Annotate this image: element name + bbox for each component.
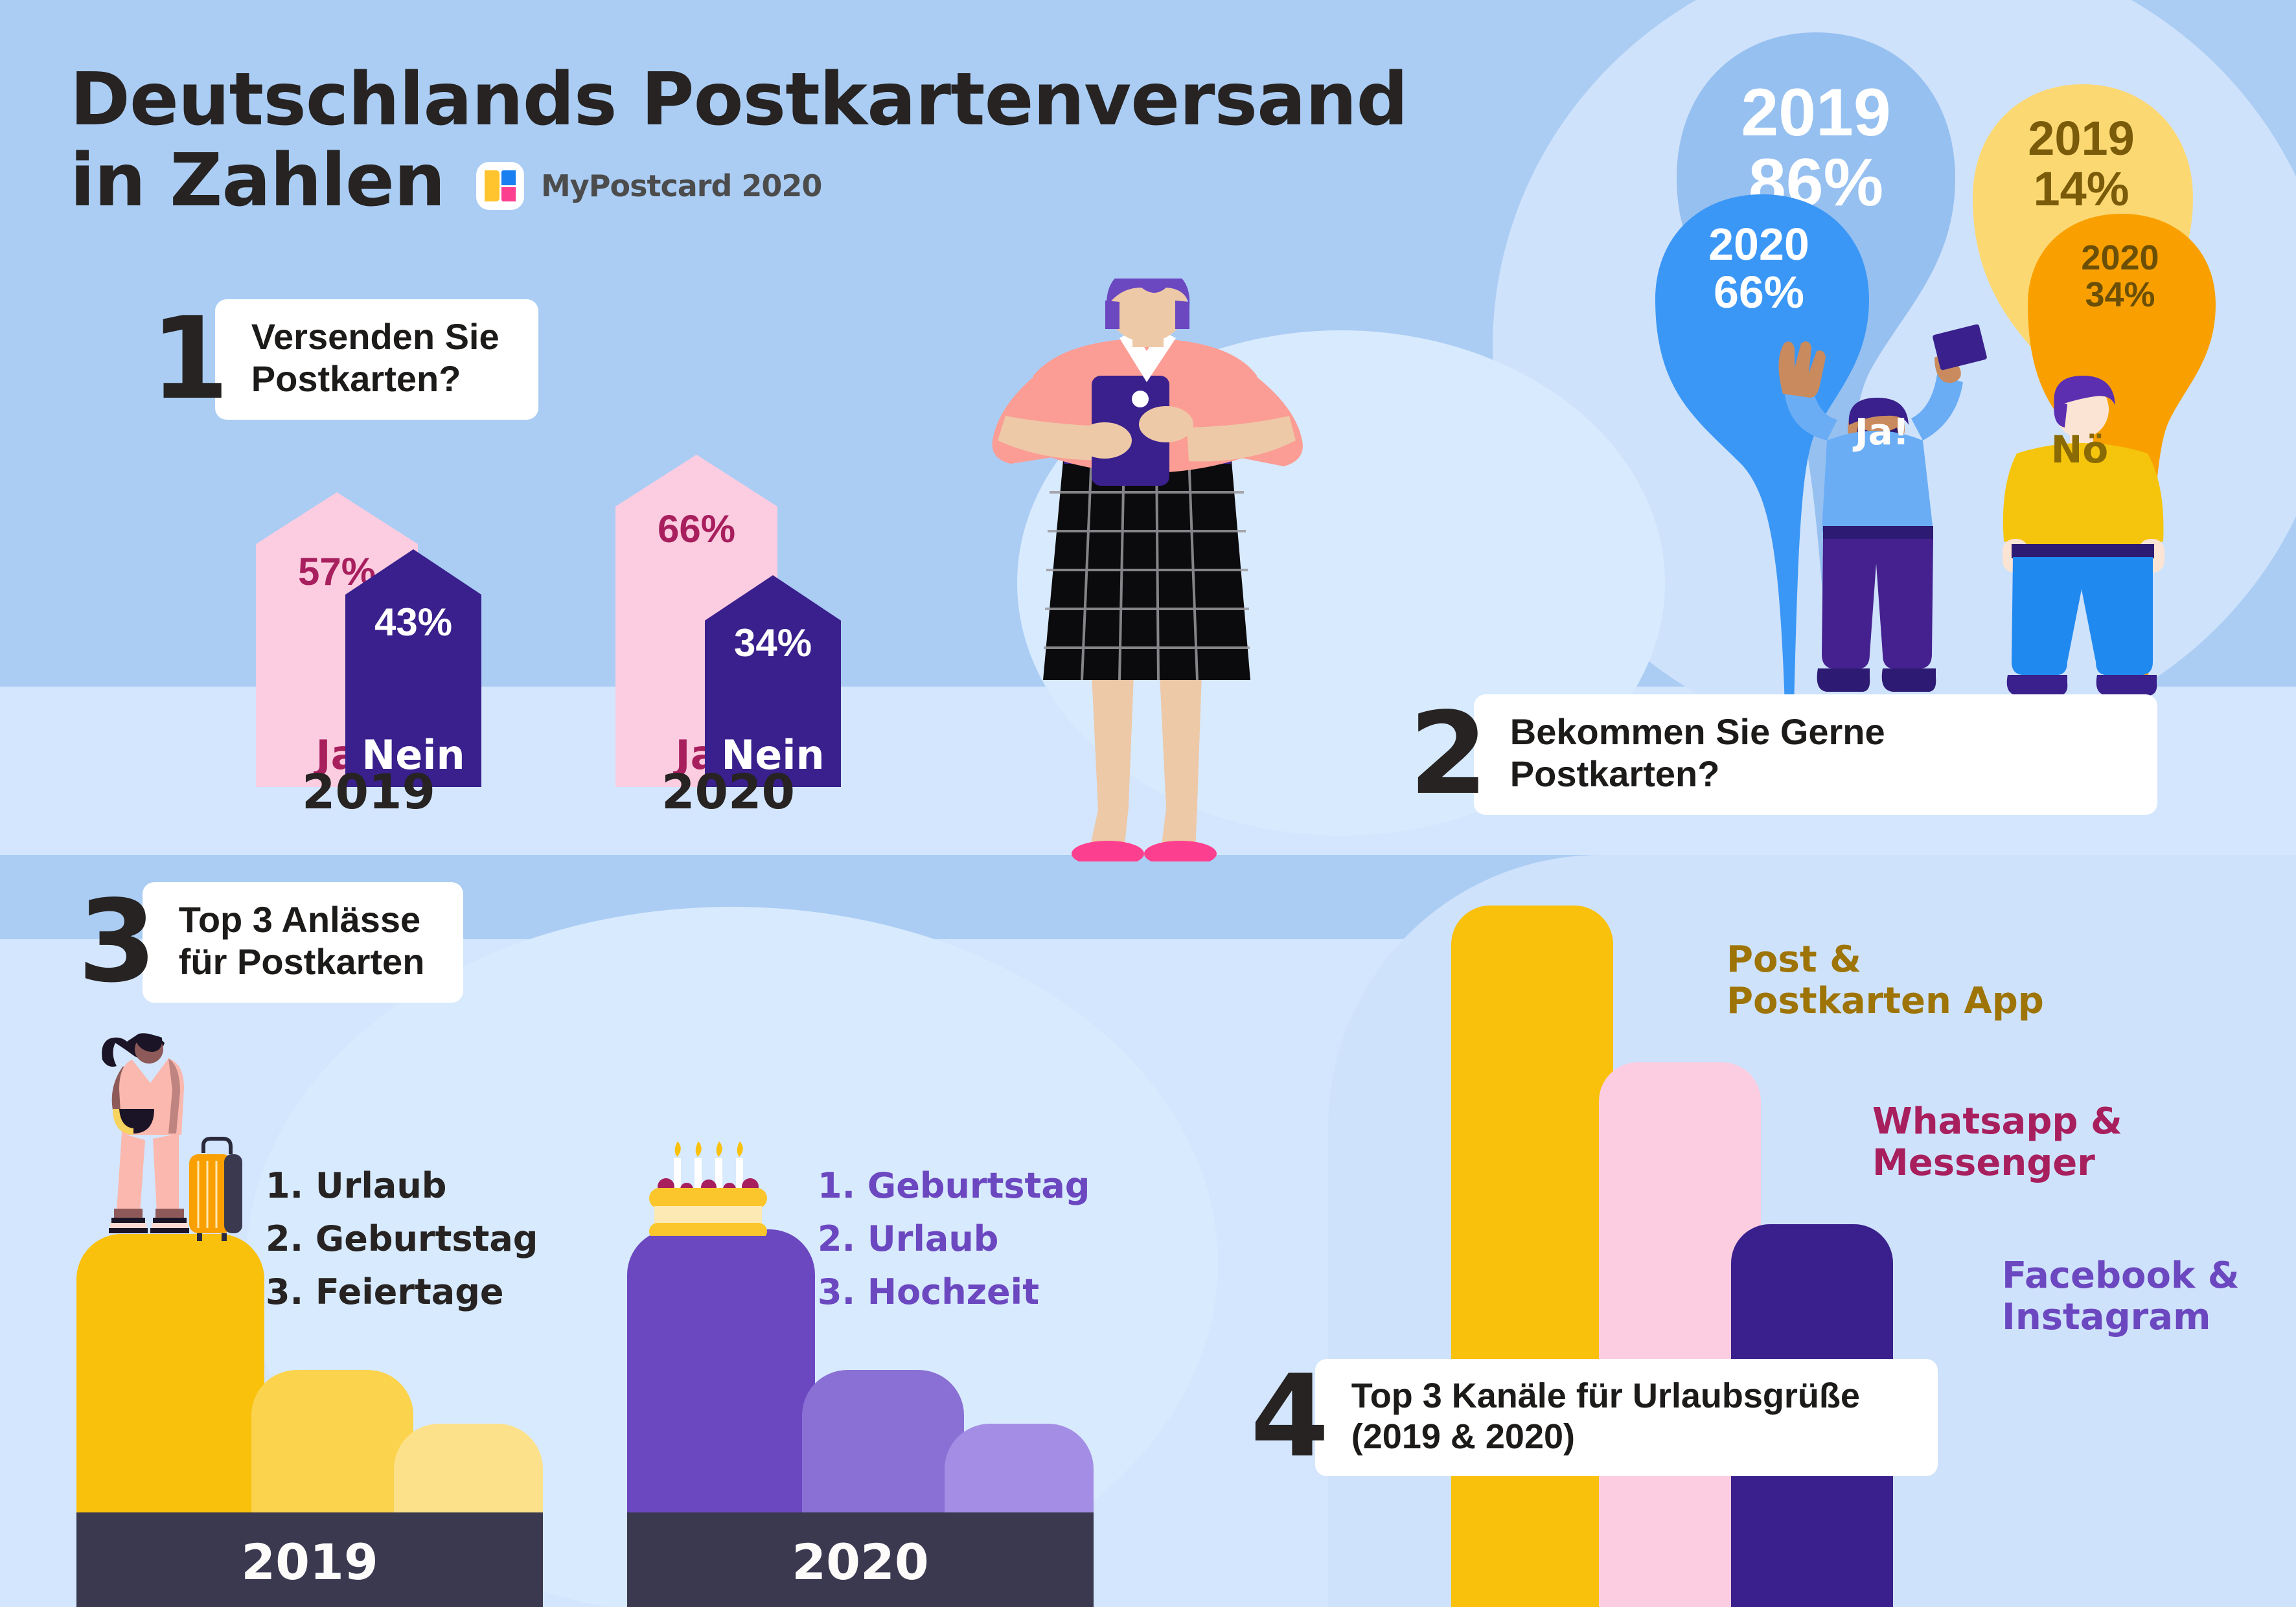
podium-year-2020: 2020 — [627, 1533, 1094, 1591]
page-title-line1: Deutschlands Postkartenversand — [70, 60, 1625, 141]
section-3-number: 3 — [78, 895, 157, 991]
bubble-noe-2019-value: 14% — [1973, 164, 2190, 214]
bubble-noe-2020-text: 2020 34% — [2028, 240, 2212, 313]
channel-bar-rank1 — [1451, 906, 1613, 1607]
section-1-title: Versenden Sie Postkarten? — [215, 299, 538, 420]
list-item: 1. Geburtstag — [818, 1159, 1090, 1213]
section-3-title: Top 3 Anlässe für Postkarten — [143, 882, 464, 1003]
list-item: 2. Urlaub — [818, 1213, 1090, 1266]
noe-person-shirt-label: Nö — [2002, 427, 2157, 472]
bar-value-2020-ja: 66% — [615, 507, 777, 551]
bubble-ja-2020-value: 66% — [1655, 268, 1863, 316]
mypostcard-logo-icon — [476, 162, 524, 210]
bubble-ja-2019-year: 2019 — [1677, 78, 1955, 148]
bar-2019-nein: 43% Nein — [345, 549, 481, 790]
section-2-title: Bekommen Sie Gerne Postkarten? — [1474, 694, 2157, 815]
list-2019-occasions: 1. Urlaub 2. Geburtstag 3. Feiertage — [266, 1159, 538, 1319]
bar-value-2020-nein: 34% — [705, 621, 841, 665]
podium-base-2020: 2020 — [627, 1512, 1094, 1607]
noe-person-illustration — [1966, 363, 2199, 706]
section-4-banner: 4 Top 3 Kanäle für Urlaubsgrüße (2019 & … — [1250, 1359, 1938, 1476]
list-item: 2. Geburtstag — [266, 1213, 538, 1266]
channel-label-rank3: Facebook & Instagram — [2002, 1255, 2240, 1338]
bubble-noe-2020-year: 2020 — [2028, 240, 2212, 277]
list-2020-occasions: 1. Geburtstag 2. Urlaub 3. Hochzeit — [818, 1159, 1090, 1319]
podium-bar-2020-rank3 — [945, 1424, 1094, 1512]
channel-label-rank2: Whatsapp & Messenger — [1872, 1101, 2122, 1184]
traveler-with-suitcase-illustration — [70, 1030, 271, 1244]
brand-label: MyPostcard 2020 — [541, 168, 821, 203]
podium-bar-2019-rank1 — [76, 1234, 264, 1512]
brand-row: MyPostcard 2020 — [476, 162, 821, 210]
page-title-line2: in Zahlen — [70, 141, 1625, 222]
section-1-number: 1 — [150, 312, 229, 408]
section-1-banner: 1 Versenden Sie Postkarten? — [150, 299, 538, 420]
bar-value-2019-nein: 43% — [345, 600, 481, 644]
section-2-banner: 2 Bekommen Sie Gerne Postkarten? — [1409, 694, 2157, 815]
infographic-canvas: Deutschlands Postkartenversand in Zahlen… — [0, 0, 2296, 1607]
section-4-title: Top 3 Kanäle für Urlaubsgrüße (2019 & 20… — [1315, 1359, 1938, 1476]
bar-2020-nein: 34% Nein — [705, 575, 841, 790]
bubble-noe-2019-text: 2019 14% — [1973, 113, 2190, 215]
year-label-2020-section1: 2020 — [615, 764, 841, 820]
bubble-noe-2019-year: 2019 — [1973, 113, 2190, 164]
podium-bar-2020-rank1 — [627, 1229, 815, 1512]
page-title: Deutschlands Postkartenversand in Zahlen — [70, 60, 1625, 222]
section-3-banner: 3 Top 3 Anlässe für Postkarten — [78, 882, 463, 1003]
list-item: 1. Urlaub — [266, 1159, 538, 1213]
bubble-ja-2020-text: 2020 66% — [1655, 220, 1863, 316]
list-item: 3. Feiertage — [266, 1266, 538, 1319]
podium-bar-2019-rank3 — [394, 1424, 543, 1512]
podium-bar-2019-rank2 — [251, 1370, 413, 1512]
bubble-noe-2020-value: 34% — [2028, 277, 2212, 313]
birthday-cake-illustration — [648, 1132, 797, 1236]
year-label-2019-section1: 2019 — [256, 764, 481, 820]
podium-base-2019: 2019 — [76, 1512, 543, 1607]
section-2-number: 2 — [1409, 707, 1488, 803]
bubble-ja-2020-year: 2020 — [1655, 220, 1863, 268]
section-4-number: 4 — [1250, 1369, 1329, 1466]
channel-label-rank1: Post & Postkarten App — [1727, 939, 2044, 1022]
podium-bar-2020-rank2 — [802, 1370, 964, 1512]
list-item: 3. Hochzeit — [818, 1266, 1090, 1319]
woman-with-phone-illustration — [952, 279, 1354, 861]
ja-person-shirt-label: Ja! — [1817, 411, 1947, 453]
podium-year-2019: 2019 — [76, 1533, 543, 1591]
